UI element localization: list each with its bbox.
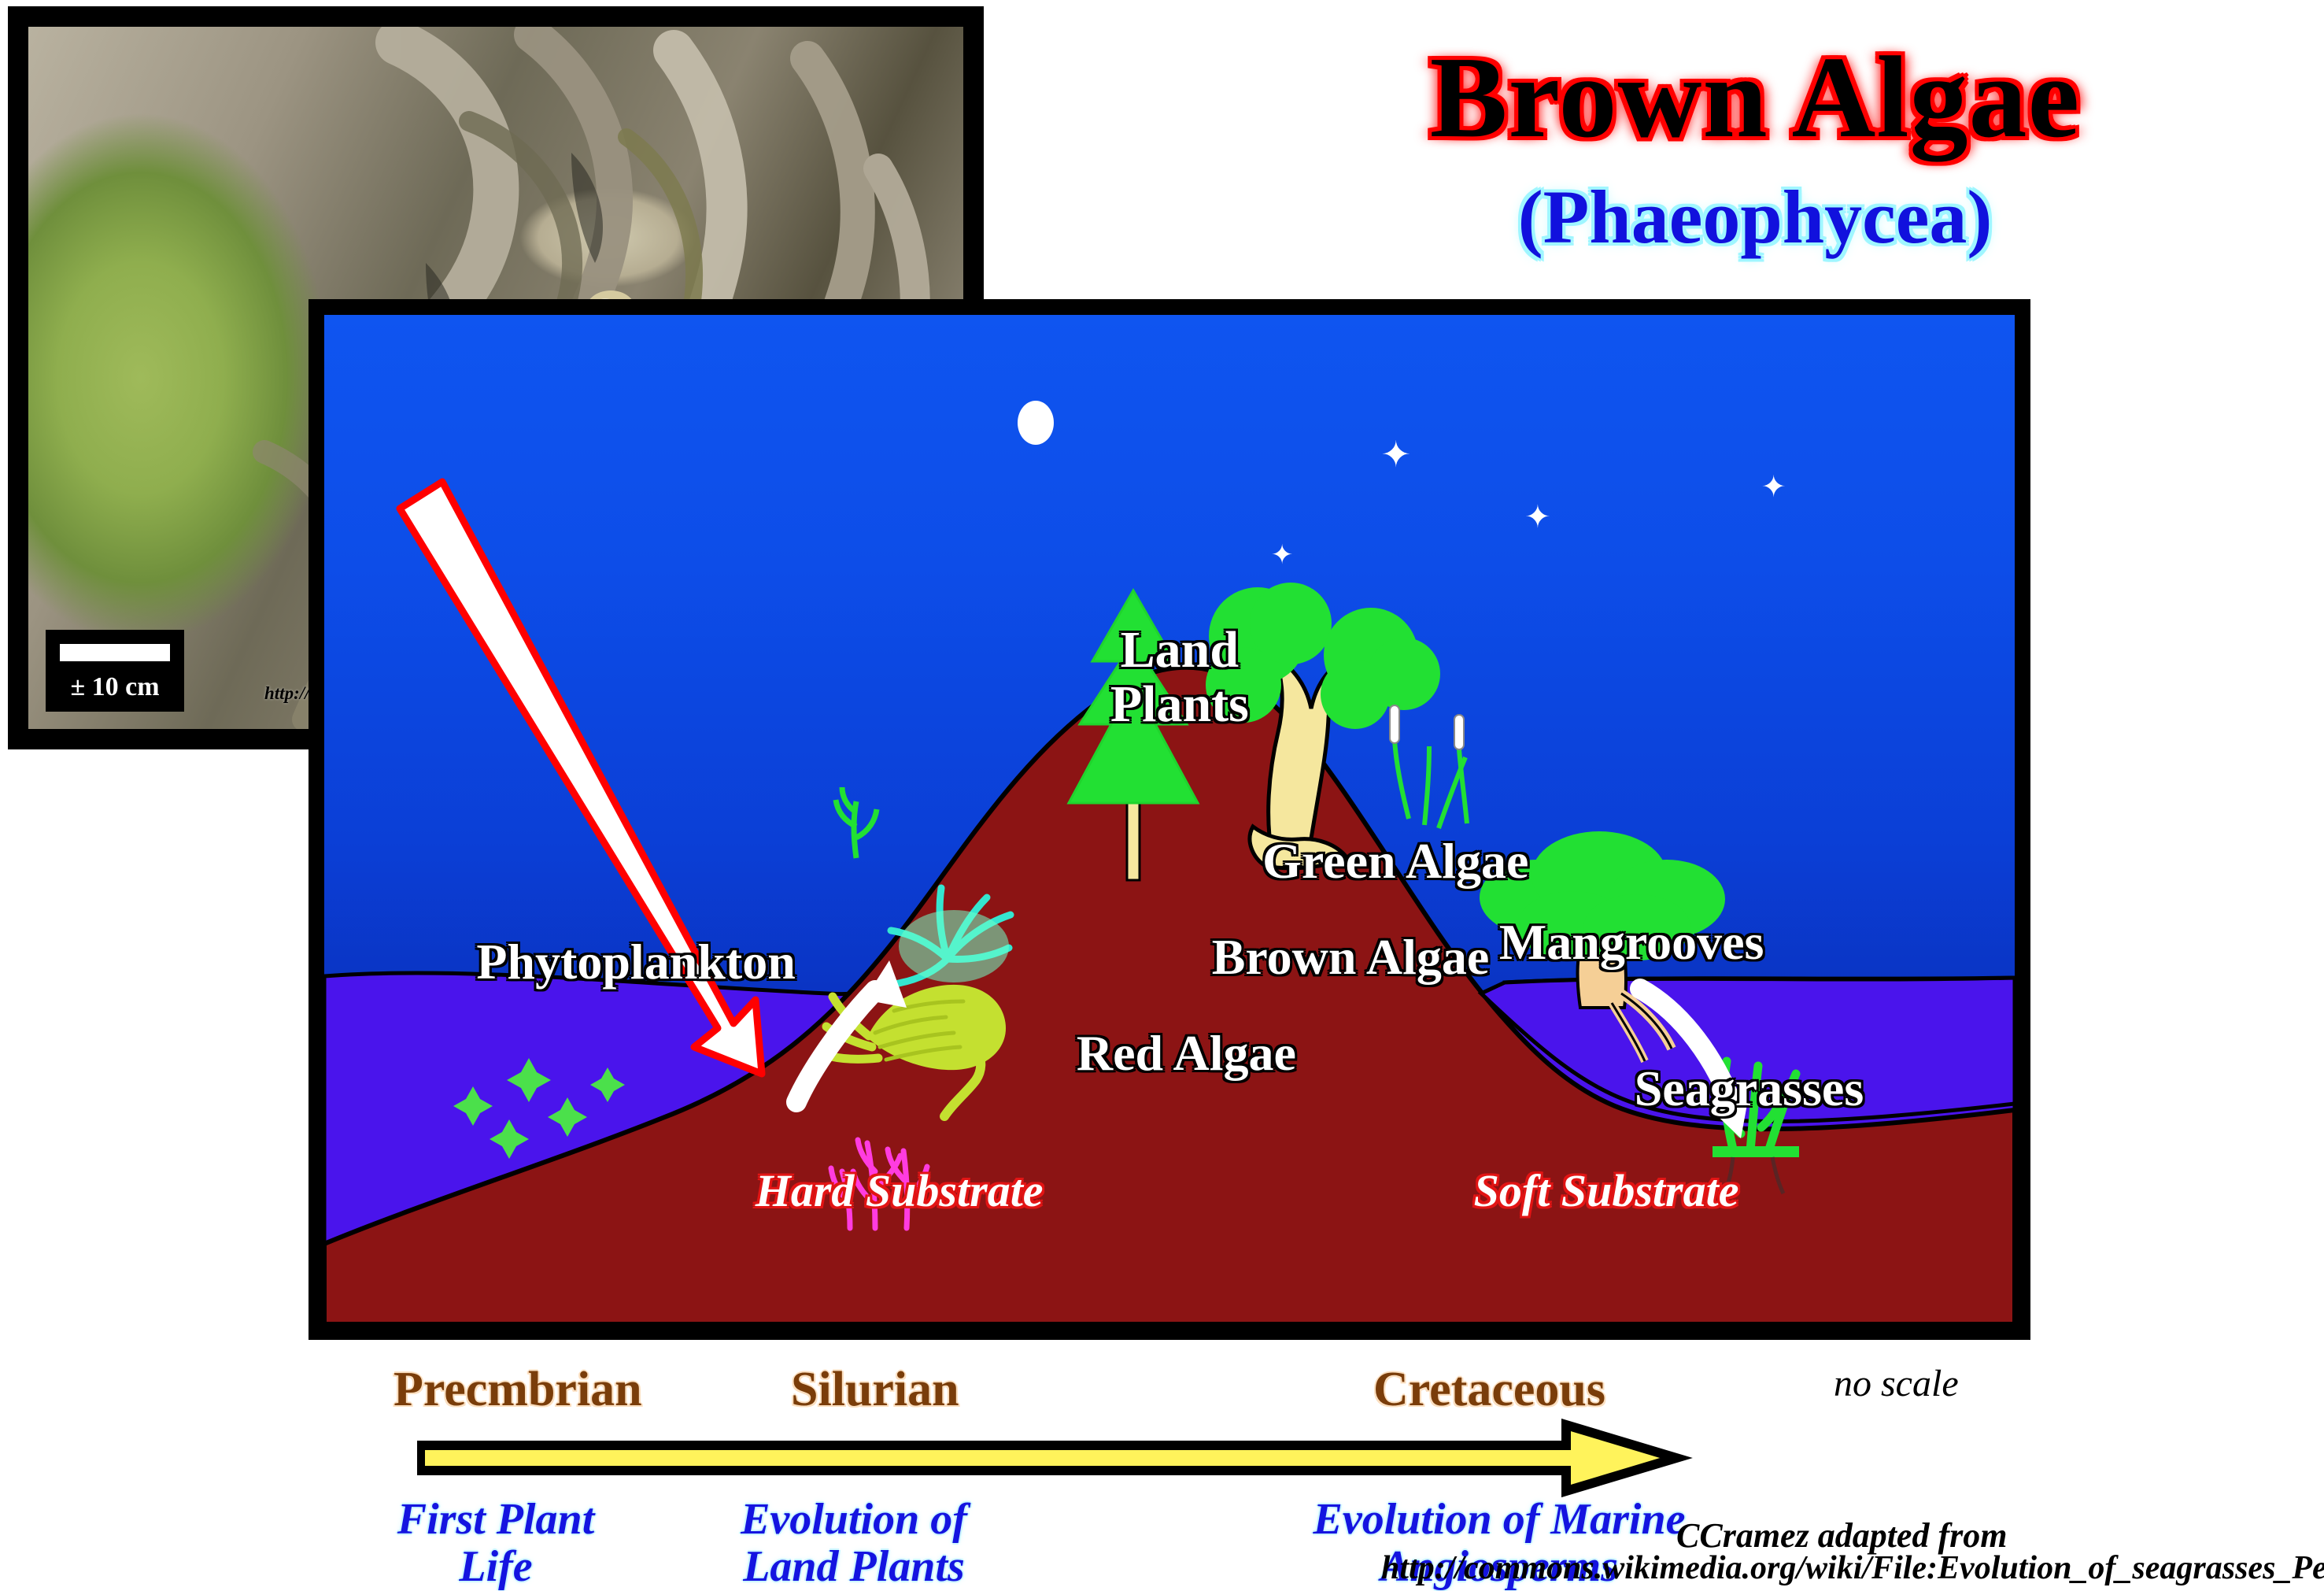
- label-hard-substrate: Hard Substrate: [756, 1167, 1044, 1215]
- era-label-silurian: Silurian: [791, 1362, 959, 1418]
- scale-bar-box: ± 10 cm: [46, 630, 184, 712]
- source-credit-line2: http://commons.wikimedia.org/wiki/File:E…: [1381, 1549, 2324, 1587]
- label-phytoplankton: Phytoplankton: [476, 935, 795, 988]
- no-scale-note: no scale: [1834, 1362, 1959, 1405]
- label-mangrooves: Mangrooves: [1499, 916, 1764, 968]
- timeline-arrow: [417, 1419, 1755, 1497]
- label-brown-algae: Brown Algae: [1212, 931, 1490, 983]
- era-label-precambrian: Precmbrian: [393, 1362, 642, 1418]
- label-land-plants: Land Plants: [1110, 623, 1249, 732]
- diagram-scene: ✦ ✦ ✦ ✦: [324, 315, 2015, 1324]
- cattail-heads-icon: [1390, 705, 1464, 749]
- label-land-plants-line1: Land: [1121, 621, 1239, 679]
- label-land-plants-line2: Plants: [1110, 675, 1249, 733]
- label-seagrasses: Seagrasses: [1635, 1062, 1864, 1115]
- page-title: Brown Algae: [1291, 39, 2219, 156]
- scale-bar-line: [60, 644, 170, 661]
- scene-artwork: [324, 315, 2015, 1324]
- land-sprout-icon: [836, 787, 877, 858]
- label-green-algae: Green Algae: [1262, 834, 1528, 887]
- label-soft-substrate: Soft Substrate: [1474, 1167, 1739, 1215]
- habitat-diagram-panel: ✦ ✦ ✦ ✦: [309, 299, 2030, 1340]
- event-label-first-plant-life: First PlantLife: [366, 1496, 626, 1591]
- page-subtitle: (Phaeophycea): [1291, 179, 2219, 255]
- era-label-cretaceous: Cretaceous: [1373, 1362, 1605, 1418]
- cattail-plants-icon: [1395, 740, 1467, 828]
- label-red-algae: Red Algae: [1077, 1027, 1296, 1079]
- event-label-evolution-land-plants: Evolution ofLand Plants: [704, 1496, 1003, 1591]
- scale-bar-label: ± 10 cm: [46, 672, 184, 702]
- seagrass-base: [1713, 1146, 1799, 1157]
- green-algae-fill: [899, 910, 1009, 982]
